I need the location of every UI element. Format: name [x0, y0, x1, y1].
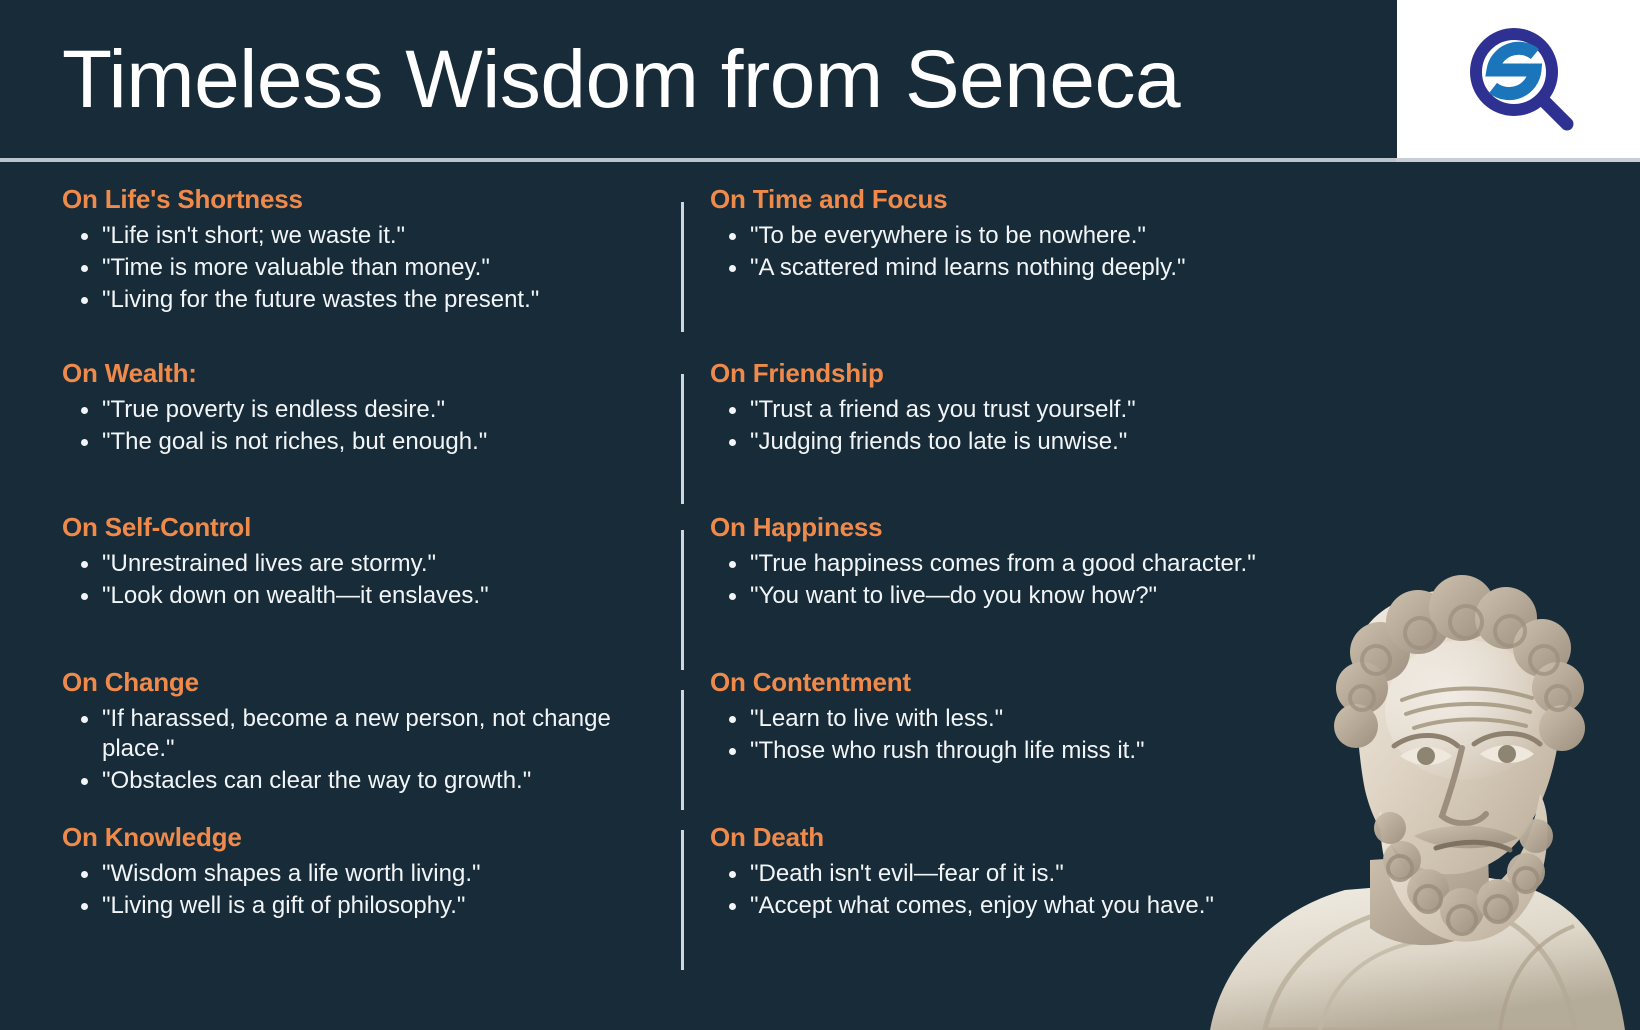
section-heading: On Contentment — [710, 667, 1330, 698]
section-on-friendship: On Friendship "Trust a friend as you tru… — [710, 358, 1330, 459]
quote-list: "Death isn't evil—fear of it is." "Accep… — [710, 859, 1330, 921]
list-item: "If harassed, become a new person, not c… — [62, 704, 622, 764]
page-header: Timeless Wisdom from Seneca — [0, 0, 1640, 160]
list-item: "Those who rush through life miss it." — [710, 736, 1330, 766]
quote-list: "True happiness comes from a good charac… — [710, 549, 1330, 611]
list-item: "True happiness comes from a good charac… — [710, 549, 1330, 579]
section-heading: On Life's Shortness — [62, 184, 662, 215]
list-item: "Unrestrained lives are stormy." — [62, 549, 662, 579]
quote-list: "To be everywhere is to be nowhere." "A … — [710, 221, 1330, 283]
section-on-knowledge: On Knowledge "Wisdom shapes a life worth… — [62, 822, 662, 923]
section-heading: On Time and Focus — [710, 184, 1330, 215]
column-divider-segment — [681, 202, 684, 332]
list-item: "Wisdom shapes a life worth living." — [62, 859, 662, 889]
content-area: On Life's Shortness "Life isn't short; w… — [0, 162, 1640, 1030]
sq-magnifier-logo-icon — [1457, 18, 1581, 142]
section-on-lifes-shortness: On Life's Shortness "Life isn't short; w… — [62, 184, 662, 316]
section-heading: On Self-Control — [62, 512, 662, 543]
quote-list: "Life isn't short; we waste it." "Time i… — [62, 221, 662, 314]
quote-list: "Wisdom shapes a life worth living." "Li… — [62, 859, 662, 921]
logo-container — [1397, 0, 1640, 160]
quote-list: "Learn to live with less." "Those who ru… — [710, 704, 1330, 766]
section-on-contentment: On Contentment "Learn to live with less.… — [710, 667, 1330, 768]
section-heading: On Friendship — [710, 358, 1330, 389]
quote-list: "If harassed, become a new person, not c… — [62, 704, 662, 795]
header-title-area: Timeless Wisdom from Seneca — [0, 0, 1397, 160]
list-item: "The goal is not riches, but enough." — [62, 427, 662, 457]
page-title: Timeless Wisdom from Seneca — [62, 39, 1180, 121]
list-item: "A scattered mind learns nothing deeply.… — [710, 253, 1330, 283]
section-on-wealth: On Wealth: "True poverty is endless desi… — [62, 358, 662, 459]
list-item: "Learn to live with less." — [710, 704, 1330, 734]
list-item: "Life isn't short; we waste it." — [62, 221, 662, 251]
list-item: "Living well is a gift of philosophy." — [62, 891, 662, 921]
section-heading: On Change — [62, 667, 662, 698]
section-on-change: On Change "If harassed, become a new per… — [62, 667, 662, 797]
list-item: "Look down on wealth—it enslaves." — [62, 581, 662, 611]
quote-list: "Trust a friend as you trust yourself." … — [710, 395, 1330, 457]
section-heading: On Happiness — [710, 512, 1330, 543]
quote-list: "Unrestrained lives are stormy." "Look d… — [62, 549, 662, 611]
section-on-happiness: On Happiness "True happiness comes from … — [710, 512, 1330, 613]
list-item: "True poverty is endless desire." — [62, 395, 662, 425]
list-item: "Accept what comes, enjoy what you have.… — [710, 891, 1330, 921]
section-on-self-control: On Self-Control "Unrestrained lives are … — [62, 512, 662, 613]
section-heading: On Death — [710, 822, 1330, 853]
list-item: "Living for the future wastes the presen… — [62, 285, 662, 315]
list-item: "To be everywhere is to be nowhere." — [710, 221, 1330, 251]
column-divider-segment — [681, 830, 684, 970]
column-divider-segment — [681, 374, 684, 504]
column-divider-segment — [681, 530, 684, 670]
list-item: "Time is more valuable than money." — [62, 253, 662, 283]
quote-list: "True poverty is endless desire." "The g… — [62, 395, 662, 457]
list-item: "Judging friends too late is unwise." — [710, 427, 1330, 457]
list-item: "Death isn't evil—fear of it is." — [710, 859, 1330, 889]
column-divider-segment — [681, 690, 684, 810]
section-on-death: On Death "Death isn't evil—fear of it is… — [710, 822, 1330, 923]
list-item: "You want to live—do you know how?" — [710, 581, 1330, 611]
list-item: "Trust a friend as you trust yourself." — [710, 395, 1330, 425]
section-heading: On Knowledge — [62, 822, 662, 853]
section-on-time-and-focus: On Time and Focus "To be everywhere is t… — [710, 184, 1330, 285]
list-item: "Obstacles can clear the way to growth." — [62, 766, 662, 796]
section-heading: On Wealth: — [62, 358, 662, 389]
